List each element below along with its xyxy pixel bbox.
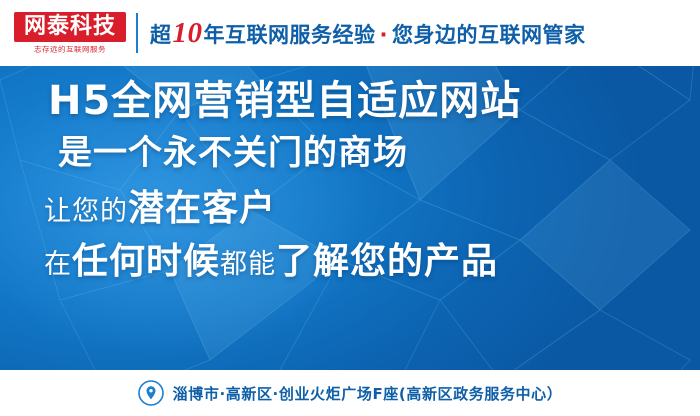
headline-line-3: 让您的潜在客户 — [44, 184, 700, 237]
address-content: 淄博市·高新区·创业火炬广场F座(高新区政务服务中心） — [138, 380, 563, 406]
slogan-mid: 年互联网服务经验 — [204, 23, 376, 47]
logo-main-text: 网泰科技 — [14, 12, 126, 42]
headline-line-3-part-b: 潜在客户 — [128, 188, 276, 229]
headline-line-3-part-a: 让您的 — [44, 196, 128, 227]
headline-line-2: 是一个永不关门的商场 — [58, 128, 700, 178]
slogan-suffix: 您身边的互联网管家 — [392, 23, 586, 47]
location-pin-icon — [138, 380, 164, 406]
address-bar: 淄博市·高新区·创业火炬广场F座(高新区政务服务中心） — [0, 370, 700, 416]
headline-line-4-part-a: 在 — [44, 249, 72, 280]
slogan-dot: · — [376, 23, 392, 47]
logo-sub-text: 志存远的互联网服务 — [14, 44, 126, 54]
promo-banner: 网泰科技 志存远的互联网服务 超10年互联网服务经验·您身边的互联网管家 H5全… — [0, 0, 700, 416]
company-logo: 网泰科技 志存远的互联网服务 — [14, 10, 126, 56]
address-text: 淄博市·高新区·创业火炬广场F座(高新区政务服务中心） — [173, 383, 563, 404]
headline-line-4: 在任何时候都能了解您的产品 — [44, 237, 700, 290]
slogan-prefix: 超 — [150, 23, 172, 47]
top-bar: 网泰科技 志存远的互联网服务 超10年互联网服务经验·您身边的互联网管家 — [0, 0, 700, 66]
headline-line-1: H5全网营销型自适应网站 — [48, 74, 700, 128]
headline-line-4-part-b: 任何时候 — [72, 241, 220, 282]
topbar-divider — [136, 13, 138, 53]
headline-block: H5全网营销型自适应网站 是一个永不关门的商场 让您的潜在客户 在任何时候都能了… — [0, 74, 700, 290]
topbar-slogan: 超10年互联网服务经验·您身边的互联网管家 — [150, 17, 585, 50]
headline-line-4-part-c: 都能 — [220, 249, 276, 280]
slogan-number: 10 — [172, 17, 204, 49]
headline-line-4-part-d: 了解您的产品 — [276, 241, 498, 282]
